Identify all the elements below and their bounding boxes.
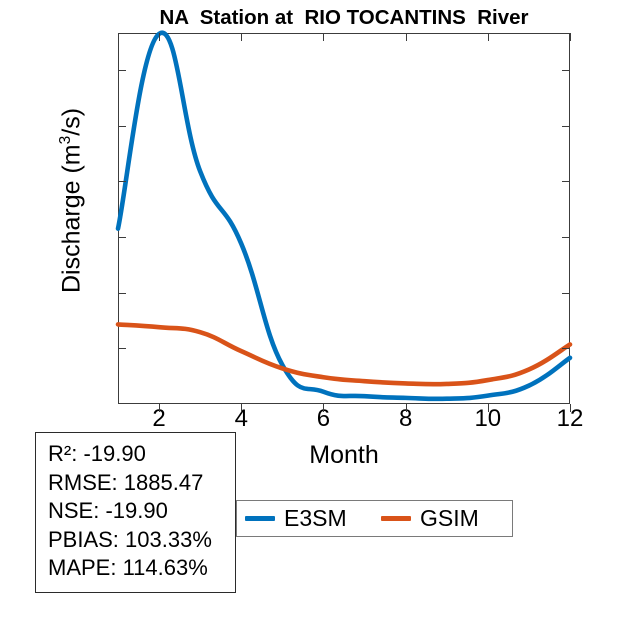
chart-legend: E3SM GSIM: [236, 500, 513, 537]
y-tick-mark: [118, 181, 126, 182]
x-tick-mark: [241, 33, 242, 41]
y-axis-label-exponent: 3: [57, 136, 74, 145]
chart-title: NA Station at RIO TOCANTINS River: [118, 6, 570, 30]
y-tick-mark: [118, 293, 126, 294]
y-tick-mark: [118, 70, 126, 71]
x-tick-mark: [241, 404, 242, 412]
x-tick-mark: [570, 404, 571, 412]
series-line-gsim: [118, 324, 570, 384]
stat-rmse: RMSE: 1885.47: [48, 469, 235, 498]
y-tick-mark: [562, 70, 570, 71]
legend-label-e3sm: E3SM: [284, 507, 347, 530]
chart-figure: NA Station at RIO TOCANTINS River Discha…: [0, 0, 625, 625]
stat-nse: NSE: -19.90: [48, 497, 235, 526]
x-tick-mark: [323, 33, 324, 41]
legend-label-gsim: GSIM: [420, 507, 479, 530]
y-tick-mark: [118, 348, 126, 349]
x-tick-mark: [159, 404, 160, 412]
x-tick-mark: [570, 33, 571, 41]
y-axis-label: Discharge (m3/s): [58, 11, 87, 391]
y-tick-mark: [562, 126, 570, 127]
statistics-box: R²: -19.90 RMSE: 1885.47 NSE: -19.90 PBI…: [35, 432, 236, 593]
legend-item-e3sm: E3SM: [245, 501, 347, 536]
plot-area: [118, 33, 570, 404]
stat-mape: MAPE: 114.63%: [48, 554, 235, 583]
y-tick-mark: [562, 293, 570, 294]
x-tick-mark: [323, 404, 324, 412]
x-tick-mark: [488, 33, 489, 41]
legend-item-gsim: GSIM: [381, 501, 479, 536]
y-tick-mark: [118, 126, 126, 127]
legend-line-swatch-icon: [245, 516, 275, 521]
y-tick-mark: [562, 237, 570, 238]
stat-pbias: PBIAS: 103.33%: [48, 526, 235, 555]
legend-line-swatch-icon: [381, 516, 411, 521]
y-tick-mark: [562, 348, 570, 349]
stat-r2: R²: -19.90: [48, 440, 235, 469]
y-axis-label-main: Discharge (m: [58, 144, 86, 293]
y-tick-mark: [118, 237, 126, 238]
x-tick-mark: [406, 404, 407, 412]
series-line-e3sm: [118, 33, 570, 399]
y-axis-label-tail: /s): [58, 108, 86, 136]
x-tick-mark: [159, 33, 160, 41]
y-tick-mark: [562, 181, 570, 182]
x-tick-mark: [488, 404, 489, 412]
x-tick-mark: [406, 33, 407, 41]
